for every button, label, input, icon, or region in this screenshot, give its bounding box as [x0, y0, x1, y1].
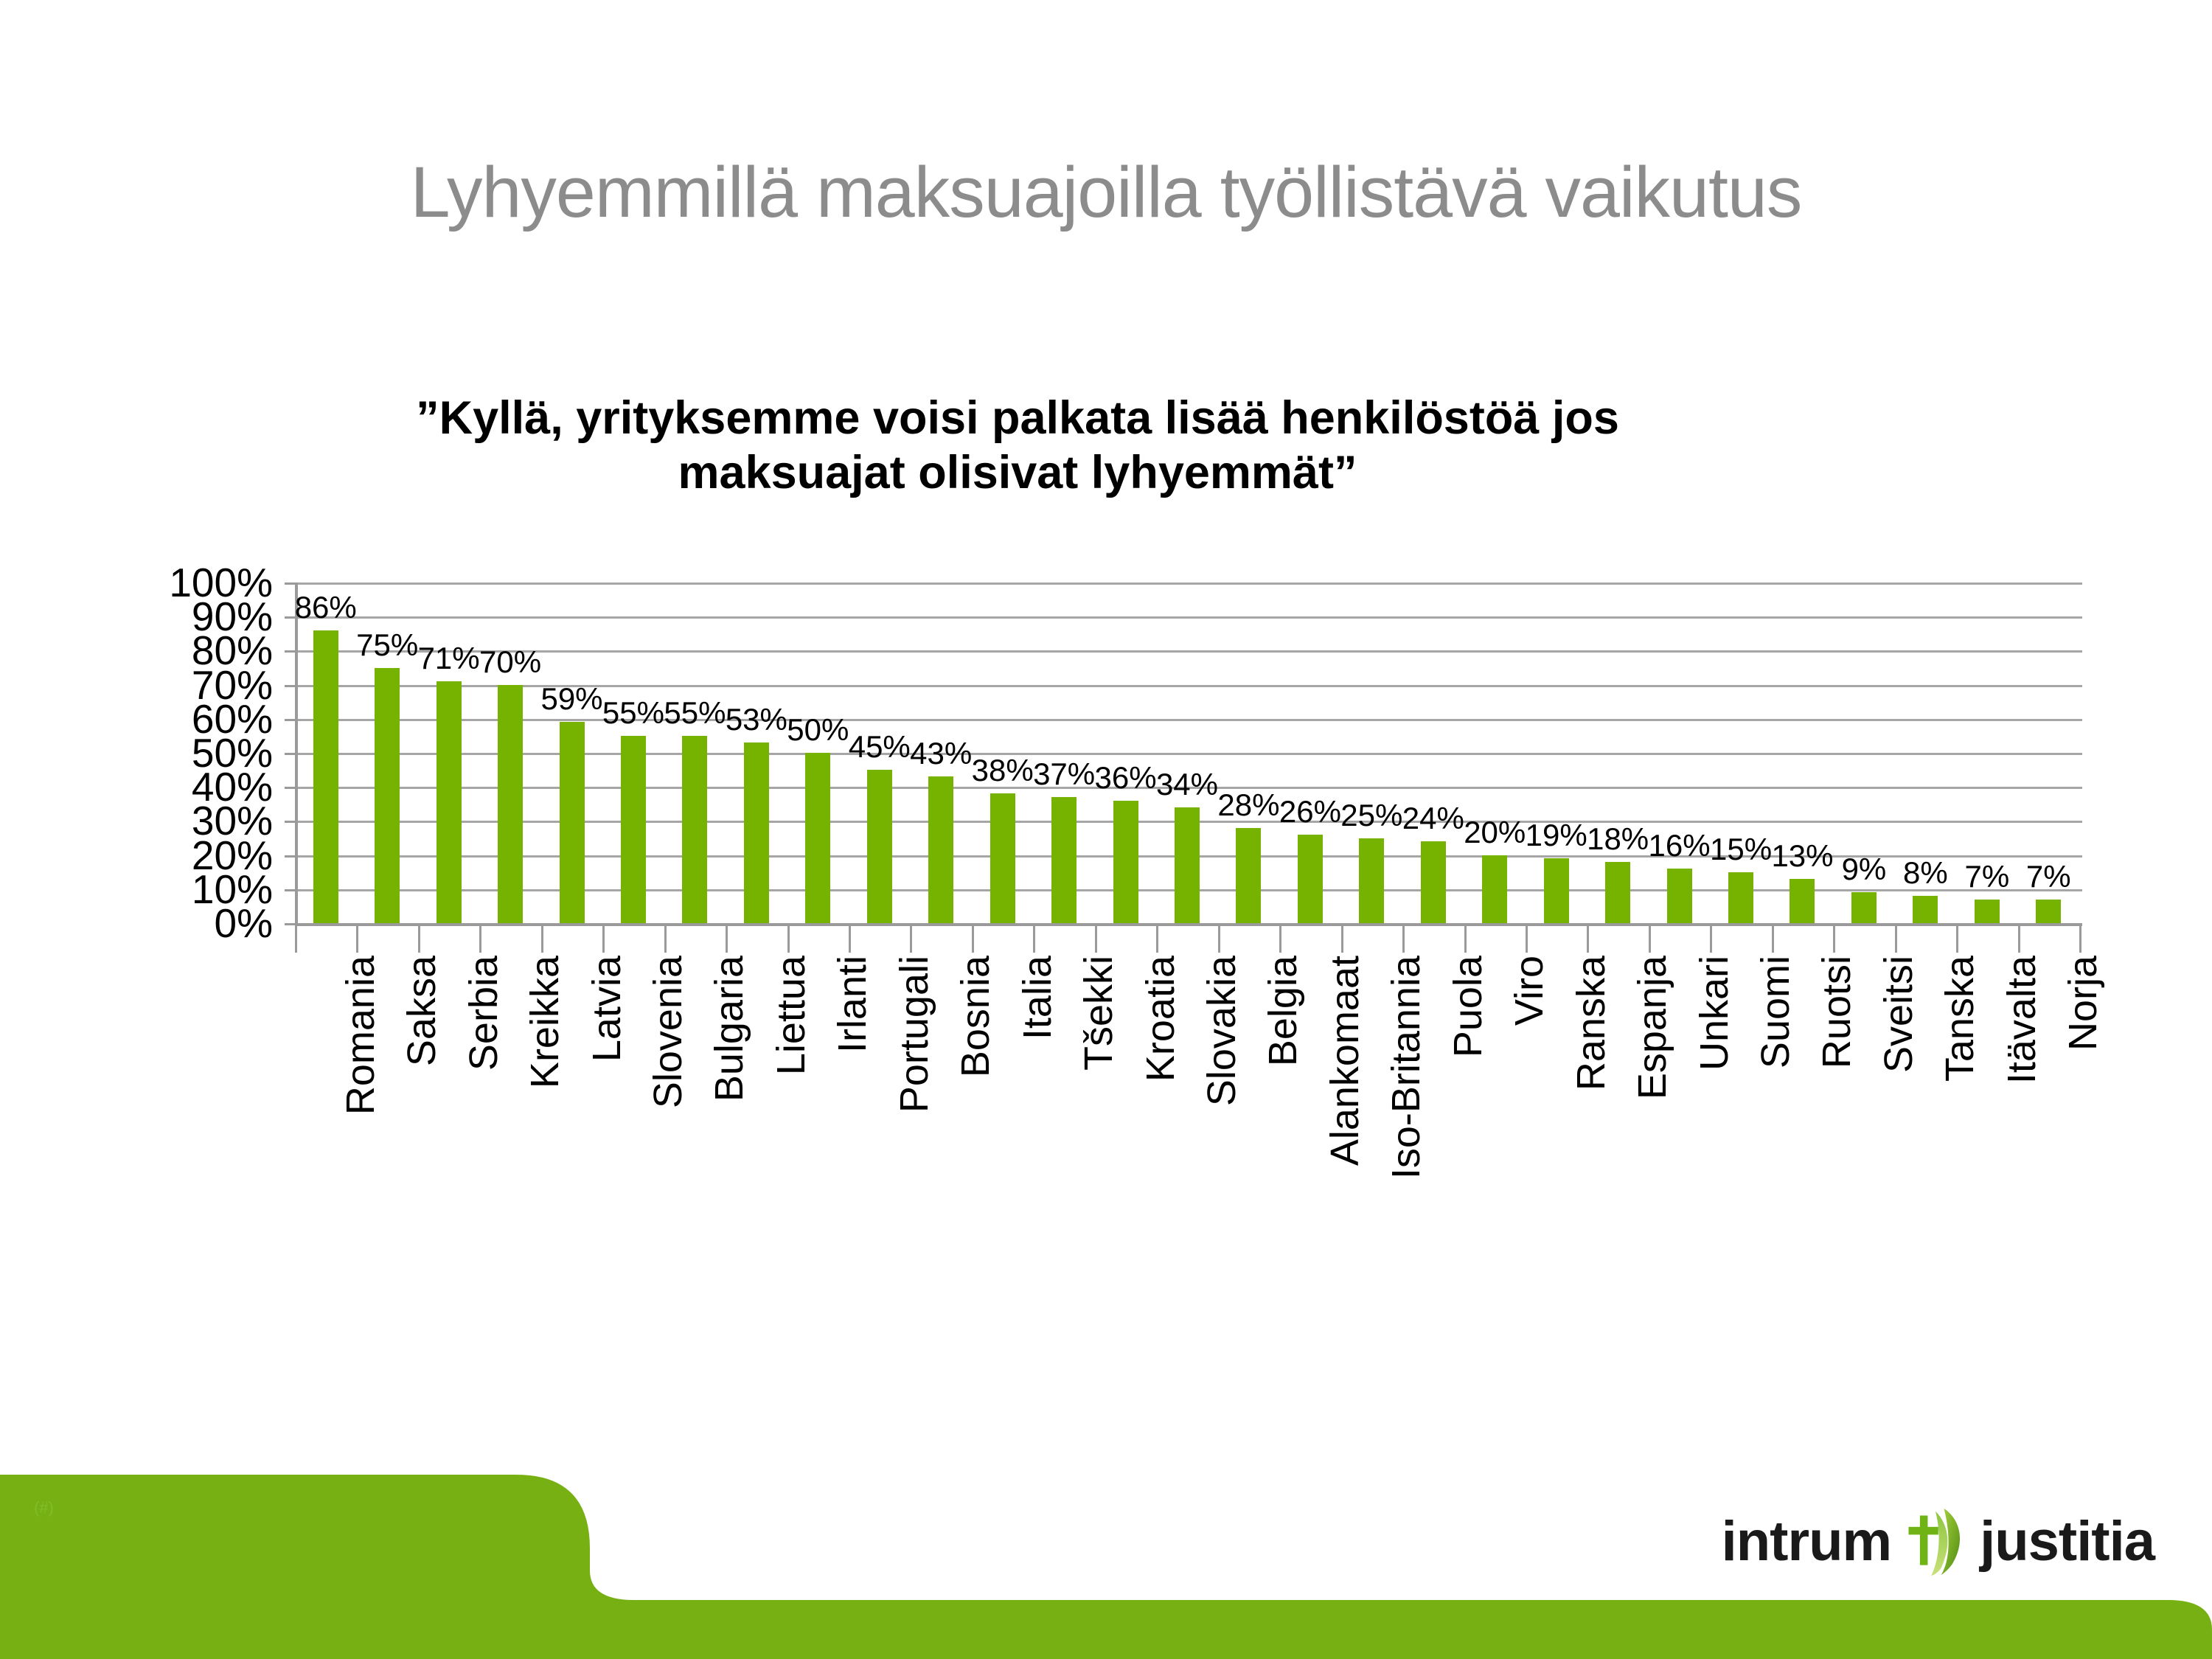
- logo-word-intrum: intrum: [1722, 1509, 1891, 1573]
- x-axis-category-label: Kroatia: [1141, 956, 1180, 1082]
- bar-value-label: 19%: [1526, 820, 1587, 851]
- y-axis-tick: [285, 923, 298, 925]
- bar-group: 7%: [1956, 582, 2017, 923]
- footer-watermark: (#): [34, 1498, 54, 1517]
- chart-title-line-2: maksuajat olisivat lyhyemmät”: [317, 445, 1718, 500]
- bar-value-label: 37%: [1033, 759, 1095, 790]
- bar-value-label: 59%: [540, 684, 602, 714]
- x-axis-tick: [1156, 926, 1158, 953]
- bar[interactable]: [560, 722, 585, 923]
- bar-group: 71%: [418, 582, 479, 923]
- bar-group: 59%: [541, 582, 602, 923]
- x-axis-tick: [602, 926, 605, 953]
- x-axis-category-label: Unkari: [1694, 956, 1734, 1071]
- bar[interactable]: [1975, 900, 2000, 923]
- x-axis-category-label: Norja: [2063, 956, 2103, 1051]
- x-axis-category-label: Serbia: [464, 956, 504, 1071]
- bar-value-label: 28%: [1217, 790, 1279, 821]
- bar-group: 55%: [602, 582, 664, 923]
- bar-value-label: 55%: [602, 698, 664, 728]
- bar-group: 34%: [1156, 582, 1217, 923]
- x-axis-tick: [1526, 926, 1528, 953]
- x-axis-tick: [1587, 926, 1589, 953]
- bar-group: 7%: [2018, 582, 2079, 923]
- x-axis-tick: [1649, 926, 1651, 953]
- x-axis-tick: [787, 926, 790, 953]
- bar[interactable]: [1298, 835, 1323, 923]
- bar-value-label: 43%: [910, 738, 972, 769]
- bar[interactable]: [1175, 807, 1200, 923]
- x-axis-category-label: Slovakia: [1202, 956, 1242, 1106]
- bar[interactable]: [1851, 892, 1877, 923]
- x-axis-tick: [418, 926, 420, 953]
- x-axis-category-label: Iso-Britannia: [1386, 956, 1426, 1179]
- x-axis-tick: [1772, 926, 1774, 953]
- bar-value-label: 75%: [356, 630, 418, 661]
- x-axis-tick: [2018, 926, 2020, 953]
- x-axis-category-label: Belgia: [1263, 956, 1303, 1066]
- bar-group: 53%: [726, 582, 787, 923]
- intrum-justitia-shield-icon: [1900, 1506, 1971, 1576]
- x-axis-category-label: Viro: [1509, 956, 1549, 1026]
- x-axis-category-label: Espanja: [1632, 956, 1672, 1099]
- x-axis-tick: [356, 926, 358, 953]
- x-axis-category-label: Kreikka: [525, 956, 565, 1088]
- x-axis-category-label: Slovenia: [648, 956, 688, 1108]
- bar[interactable]: [1236, 828, 1261, 923]
- bar[interactable]: [1482, 855, 1507, 923]
- bar-group: 13%: [1772, 582, 1833, 923]
- bar-value-label: 86%: [295, 592, 357, 623]
- bar[interactable]: [1667, 869, 1692, 923]
- bar-value-label: 26%: [1279, 796, 1341, 827]
- bar-value-label: 38%: [972, 755, 1034, 786]
- brand-logo: intrum justitia: [1722, 1506, 2154, 1576]
- bar[interactable]: [1113, 801, 1138, 923]
- bar-group: 9%: [1833, 582, 1894, 923]
- bar-value-label: 9%: [1842, 854, 1887, 885]
- bar-group: 75%: [356, 582, 417, 923]
- bar[interactable]: [1790, 879, 1815, 923]
- y-axis-label: 0%: [103, 900, 273, 947]
- bar[interactable]: [928, 776, 953, 923]
- bar-group: 37%: [1033, 582, 1094, 923]
- x-axis-category-label: Itävalta: [2002, 956, 2042, 1084]
- x-axis-tick: [1341, 926, 1343, 953]
- bar-value-label: 24%: [1402, 803, 1464, 834]
- bar-value-label: 15%: [1710, 834, 1772, 865]
- bar-value-label: 53%: [726, 704, 787, 735]
- bar-group: 16%: [1649, 582, 1710, 923]
- bar-group: 8%: [1895, 582, 1956, 923]
- x-axis-category-label: Irlanti: [832, 956, 872, 1053]
- bar-group: 36%: [1095, 582, 1156, 923]
- bar-group: 50%: [787, 582, 849, 923]
- bar-group: 18%: [1587, 582, 1648, 923]
- x-axis-tick: [664, 926, 667, 953]
- x-axis-category-label: Liettua: [771, 956, 811, 1075]
- bar-value-label: 25%: [1340, 800, 1402, 831]
- bar-value-label: 55%: [664, 698, 726, 728]
- bar-value-label: 34%: [1156, 769, 1218, 800]
- bar[interactable]: [313, 630, 338, 923]
- x-axis-tick: [849, 926, 851, 953]
- bar-value-label: 7%: [1964, 861, 2009, 892]
- x-axis-category-label: Bosnia: [956, 956, 995, 1077]
- x-axis-category-label: Italia: [1018, 956, 1057, 1040]
- bar[interactable]: [498, 685, 523, 923]
- bar-group: 45%: [849, 582, 910, 923]
- chart-title: ”Kyllä, yrityksemme voisi palkata lisää …: [317, 391, 1718, 501]
- x-axis-category-label: Ruotsi: [1817, 956, 1857, 1068]
- x-axis-tick: [910, 926, 912, 953]
- x-axis-category-label: Tšekki: [1079, 956, 1119, 1071]
- bar[interactable]: [1544, 858, 1569, 923]
- bar-value-label: 36%: [1095, 762, 1157, 793]
- x-axis-tick: [1956, 926, 1958, 953]
- bar[interactable]: [437, 681, 462, 923]
- bar-value-label: 7%: [2026, 861, 2071, 892]
- bar[interactable]: [1359, 838, 1384, 924]
- x-axis-category-label: Saksa: [402, 956, 442, 1066]
- x-axis-tick: [1218, 926, 1220, 953]
- bar-group: 20%: [1464, 582, 1526, 923]
- x-axis-ticks: [295, 926, 2079, 953]
- bar-group: 24%: [1402, 582, 1464, 923]
- x-axis-tick: [1095, 926, 1097, 953]
- x-axis-tick: [295, 926, 297, 953]
- x-axis-tick: [479, 926, 481, 953]
- bar-group: 28%: [1218, 582, 1279, 923]
- logo-word-justitia: justitia: [1980, 1509, 2154, 1573]
- bar-group: 43%: [910, 582, 971, 923]
- bar-series: 86%75%71%70%59%55%55%53%50%45%43%38%37%3…: [295, 582, 2079, 923]
- x-axis-category-label: Romania: [341, 956, 380, 1115]
- x-axis-tick: [726, 926, 728, 953]
- bar[interactable]: [621, 736, 646, 923]
- x-axis-category-label: Puola: [1448, 956, 1488, 1057]
- x-axis-category-label: Latvia: [587, 956, 627, 1062]
- bar-value-label: 20%: [1464, 817, 1526, 848]
- bar[interactable]: [375, 668, 400, 924]
- bar-value-label: 50%: [787, 714, 849, 745]
- bar-group: 86%: [295, 582, 356, 923]
- bar-value-label: 13%: [1771, 841, 1833, 872]
- x-axis-category-label: Sveitsi: [1879, 956, 1919, 1073]
- x-axis-tick: [1402, 926, 1405, 953]
- chart-title-line-1: ”Kyllä, yrityksemme voisi palkata lisää …: [317, 391, 1718, 445]
- bar-value-label: 45%: [849, 731, 911, 762]
- bar[interactable]: [805, 753, 830, 923]
- bar[interactable]: [1051, 797, 1077, 923]
- bar[interactable]: [1728, 872, 1753, 923]
- x-axis-tick: [1710, 926, 1712, 953]
- x-axis-tick: [1464, 926, 1467, 953]
- bar-chart: ”Kyllä, yrityksemme voisi palkata lisää …: [0, 391, 2212, 1408]
- x-axis-category-label: Suomi: [1756, 956, 1795, 1068]
- bar-group: 70%: [479, 582, 540, 923]
- x-axis-tick: [1833, 926, 1835, 953]
- bar-value-label: 16%: [1649, 830, 1711, 861]
- x-axis-tick: [1279, 926, 1281, 953]
- bar-group: 25%: [1341, 582, 1402, 923]
- bar-group: 19%: [1526, 582, 1587, 923]
- bar-group: 26%: [1279, 582, 1340, 923]
- bar[interactable]: [744, 742, 769, 923]
- x-axis-category-label: Tanska: [1940, 956, 1980, 1082]
- x-axis-category-label: Ranska: [1571, 956, 1611, 1091]
- bar[interactable]: [990, 793, 1015, 923]
- bar-value-label: 18%: [1587, 824, 1649, 855]
- bar[interactable]: [1913, 896, 1938, 923]
- bar[interactable]: [682, 736, 707, 923]
- x-axis-tick: [1033, 926, 1035, 953]
- bar[interactable]: [867, 770, 892, 923]
- x-axis-category-label: Bulgaria: [709, 956, 749, 1102]
- bar[interactable]: [1421, 841, 1446, 923]
- x-axis-labels: RomaniaSaksaSerbiaKreikkaLatviaSloveniaB…: [295, 956, 2079, 1273]
- x-axis-category-label: Alankomaat: [1325, 956, 1365, 1166]
- bar-value-label: 70%: [479, 647, 541, 678]
- bar-value-label: 71%: [418, 643, 480, 674]
- x-axis-tick: [1895, 926, 1897, 953]
- x-axis-tick: [2079, 926, 2081, 953]
- bar-value-label: 8%: [1903, 858, 1948, 888]
- bar-group: 38%: [972, 582, 1033, 923]
- bar-group: 15%: [1710, 582, 1771, 923]
- bar-group: 55%: [664, 582, 726, 923]
- x-axis-tick: [541, 926, 543, 953]
- bar[interactable]: [2036, 900, 2061, 923]
- page-title: Lyhyemmillä maksuajoilla työllistävä vai…: [0, 151, 2212, 234]
- bar[interactable]: [1605, 862, 1630, 923]
- x-axis-category-label: Portugali: [894, 956, 934, 1113]
- x-axis-tick: [972, 926, 974, 953]
